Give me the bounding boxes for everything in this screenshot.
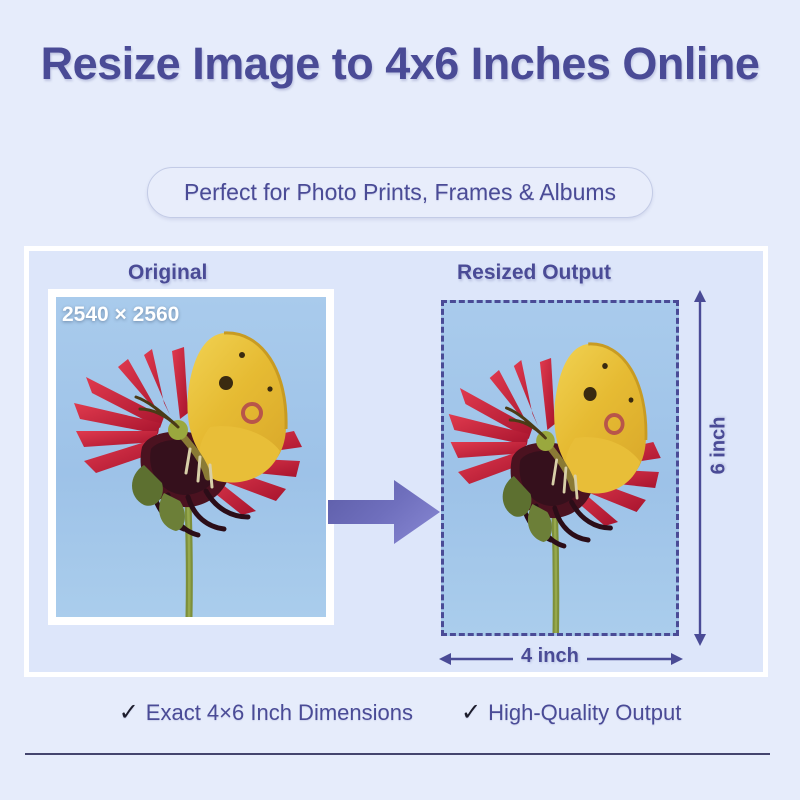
original-photo <box>56 297 326 617</box>
resized-photo <box>441 300 679 636</box>
subtitle-container: Perfect for Photo Prints, Frames & Album… <box>0 167 800 218</box>
feature-item-high-quality: ✓ High-Quality Output <box>461 700 681 726</box>
check-icon: ✓ <box>119 701 139 725</box>
page-title: Resize Image to 4x6 Inches Online <box>40 36 760 92</box>
feature-item-exact-dimensions: ✓ Exact 4×6 Inch Dimensions <box>119 700 413 726</box>
butterfly-flower-illustration-resized <box>444 303 676 633</box>
original-panel-label: Original <box>128 261 207 285</box>
page-header: Resize Image to 4x6 Inches Online <box>0 36 800 92</box>
width-measurement-label: 4 inch <box>513 645 587 668</box>
right-arrow-icon <box>328 479 440 545</box>
butterfly-flower-illustration <box>56 297 326 617</box>
original-photo-frame: 2540 × 2560 <box>48 289 334 625</box>
bottom-divider <box>25 753 770 755</box>
feature-label: High-Quality Output <box>488 700 681 726</box>
original-dimensions-badge: 2540 × 2560 <box>62 303 179 327</box>
feature-list: ✓ Exact 4×6 Inch Dimensions ✓ High-Quali… <box>0 700 800 726</box>
height-measurement-label: 6 inch <box>707 417 730 475</box>
subtitle-badge: Perfect for Photo Prints, Frames & Album… <box>147 167 653 218</box>
check-icon: ✓ <box>461 701 481 725</box>
resized-panel-label: Resized Output <box>457 261 611 285</box>
feature-label: Exact 4×6 Inch Dimensions <box>146 700 413 726</box>
